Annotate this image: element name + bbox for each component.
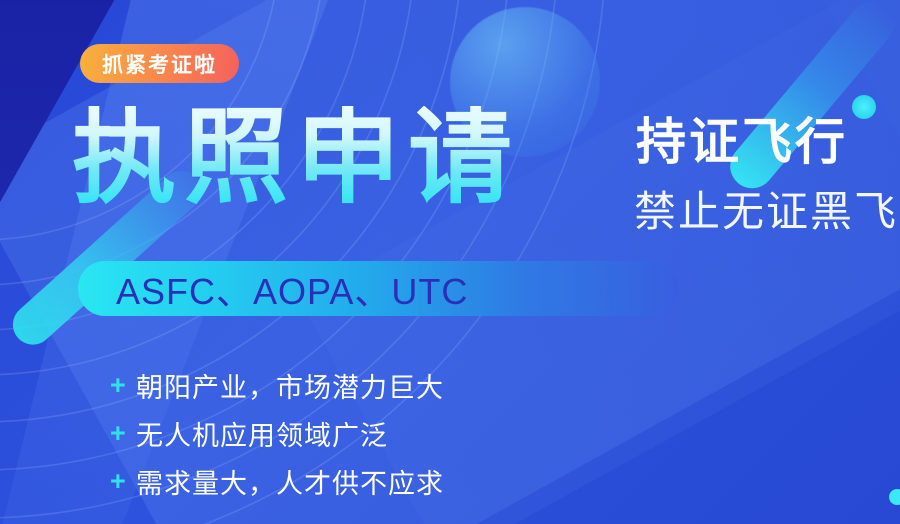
urgency-badge: 抓紧考证啦 [80, 44, 239, 83]
list-item: + 朝阳产业，市场潜力巨大 [110, 362, 444, 409]
banner-content: 抓紧考证啦 执照申请 持证飞行 禁止无证黑飞 ASFC、AOPA、UTC + 朝… [0, 0, 900, 524]
certification-list-label: ASFC、AOPA、UTC [116, 263, 468, 315]
list-item-label: 需求量大，人才供不应求 [136, 462, 444, 501]
list-item-label: 无人机应用领域广泛 [136, 414, 388, 453]
plus-icon: + [110, 372, 136, 399]
list-item: + 需求量大，人才供不应求 [110, 458, 444, 505]
plus-icon: + [110, 420, 136, 447]
feature-list: + 朝阳产业，市场潜力巨大 + 无人机应用领域广泛 + 需求量大，人才供不应求 [110, 362, 444, 506]
list-item: + 无人机应用领域广泛 [110, 410, 444, 457]
side-heading: 持证飞行 [636, 116, 848, 168]
promo-banner: 抓紧考证啦 执照申请 持证飞行 禁止无证黑飞 ASFC、AOPA、UTC + 朝… [0, 0, 900, 524]
page-title: 执照申请 [72, 106, 520, 210]
plus-icon: + [110, 468, 136, 495]
certification-pill: ASFC、AOPA、UTC [78, 261, 678, 316]
list-item-label: 朝阳产业，市场潜力巨大 [136, 366, 444, 405]
side-subheading: 禁止无证黑飞 [634, 190, 898, 234]
